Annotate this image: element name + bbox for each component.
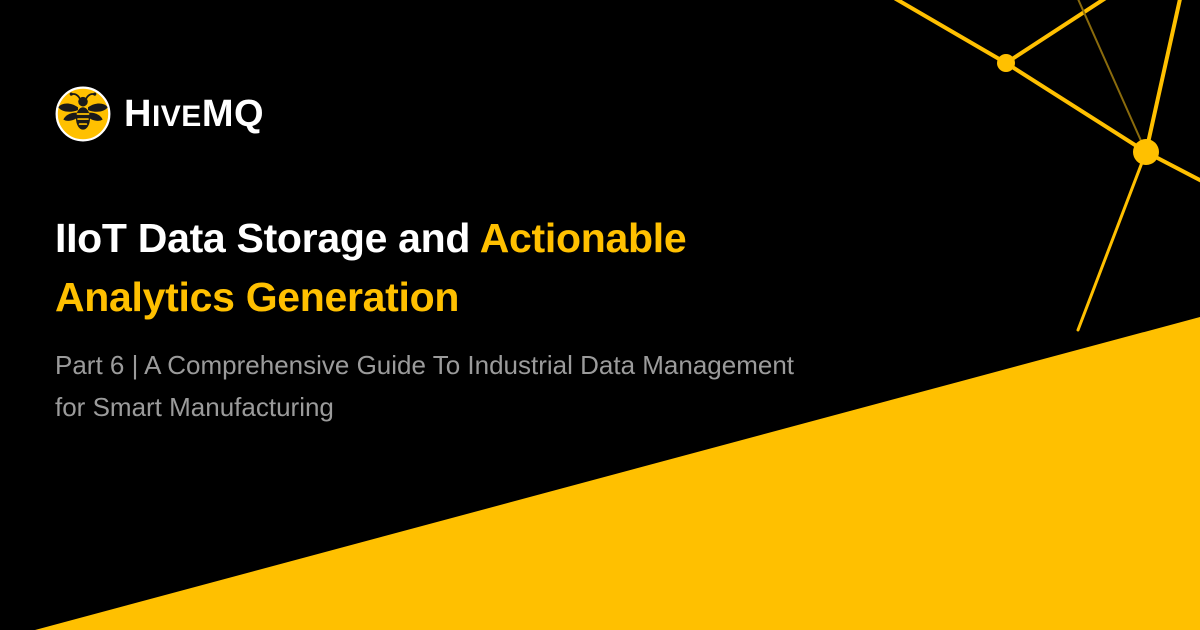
hivemq-wordmark: H IVE MQ [124, 95, 264, 133]
hivemq-bee-logo-icon [55, 86, 111, 142]
hivemq-logo[interactable]: H IVE MQ [55, 86, 264, 142]
network-node-b [1133, 139, 1159, 165]
page-title: IIoT Data Storage and Actionable Analyti… [55, 209, 815, 325]
network-edge-b-up [1146, 0, 1182, 152]
network-edge-dim-diagonal [1074, 0, 1146, 152]
title-segment-white: IIoT Data Storage and [55, 215, 480, 261]
network-edge-top-left [884, 0, 1006, 63]
page-subtitle: Part 6 | A Comprehensive Guide To Indust… [55, 344, 795, 428]
title-segment-accent-2: Analytics Generation [55, 274, 459, 320]
wordmark-h: H [124, 95, 152, 133]
network-edge-b-right [1146, 152, 1200, 188]
network-edge-a-up [1006, 0, 1118, 63]
network-edge-a-to-b [1006, 63, 1146, 152]
title-segment-accent-1: Actionable [480, 215, 687, 261]
network-edge-b-down [1078, 152, 1146, 330]
wordmark-ive: IVE [152, 102, 202, 132]
social-card-canvas: H IVE MQ IIoT Data Storage and Actionabl… [0, 0, 1200, 630]
wordmark-mq: MQ [202, 95, 264, 133]
network-node-a [997, 54, 1015, 72]
